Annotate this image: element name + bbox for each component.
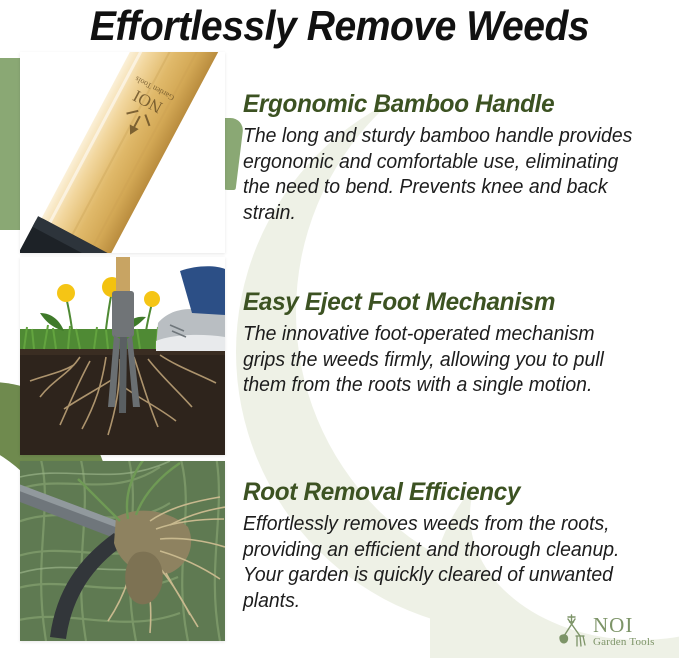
feature-image-foot-mechanism: [20, 257, 225, 455]
feature-body-2: The innovative foot-operated mechanism g…: [243, 322, 641, 399]
page-title: Effortlessly Remove Weeds: [24, 2, 655, 50]
feature-image-root-removal: [20, 461, 225, 641]
feature-block-1: Ergonomic Bamboo Handle The long and stu…: [243, 90, 653, 226]
logo-text: NOI Garden Tools: [593, 615, 655, 648]
feature-heading-1: Ergonomic Bamboo Handle: [243, 90, 641, 119]
crossed-garden-tools-icon: [557, 614, 587, 648]
feature-heading-3: Root Removal Efficiency: [243, 478, 641, 507]
logo-tagline: Garden Tools: [593, 637, 655, 648]
feature-body-1: The long and sturdy bamboo handle provid…: [243, 124, 641, 226]
feature-image-bamboo-handle: NOI Garden Tools: [20, 52, 225, 253]
feature-block-2: Easy Eject Foot Mechanism The innovative…: [243, 288, 653, 399]
weed-puller-in-soil-illustration: [20, 257, 225, 455]
weed-roots-illustration: [20, 461, 225, 641]
feature-body-3: Effortlessly removes weeds from the root…: [243, 512, 641, 614]
product-feature-infographic: Effortlessly Remove Weeds: [0, 0, 679, 658]
brand-logo: NOI Garden Tools: [557, 612, 669, 650]
logo-name: NOI: [593, 615, 655, 636]
bamboo-handle-illustration: NOI Garden Tools: [20, 52, 225, 253]
feature-block-3: Root Removal Efficiency Effortlessly rem…: [243, 478, 653, 614]
feature-heading-2: Easy Eject Foot Mechanism: [243, 288, 641, 317]
